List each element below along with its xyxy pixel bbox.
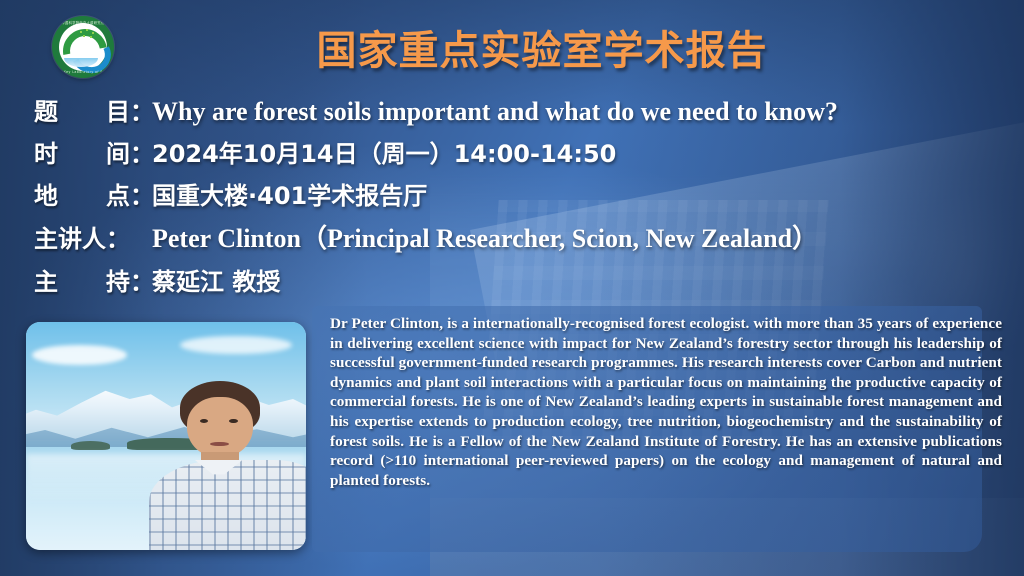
photo-cloud bbox=[32, 345, 127, 366]
info-value-topic: Why are forest soils important and what … bbox=[152, 97, 838, 127]
info-row-time: 时 间： 2024年10月14日（周一）14:00-14:50 bbox=[34, 134, 1014, 169]
info-row-topic: 题 目： Why are forest soils important and … bbox=[34, 92, 1014, 127]
photo-person bbox=[149, 381, 306, 550]
info-value-speaker: Peter Clinton（Principal Researcher, Scio… bbox=[152, 218, 818, 255]
info-label-host: 主 持： bbox=[34, 262, 152, 297]
page-title: 国家重点实验室学术报告 bbox=[0, 18, 1024, 76]
poster-header: 中国科学院南京土壤研究所 State Key Laboratory of Soi… bbox=[0, 0, 1024, 88]
info-value-time: 2024年10月14日（周一）14:00-14:50 bbox=[152, 134, 616, 169]
info-row-host: 主 持： 蔡延江 教授 bbox=[34, 262, 1014, 297]
info-label-speaker: 主讲人： bbox=[34, 219, 152, 254]
speaker-photo bbox=[26, 322, 306, 550]
info-label-time: 时 间： bbox=[34, 134, 152, 169]
info-row-speaker: 主讲人： Peter Clinton（Principal Researcher,… bbox=[34, 218, 1014, 255]
info-value-host: 蔡延江 教授 bbox=[152, 262, 280, 297]
photo-person-face bbox=[187, 397, 253, 457]
info-row-venue: 地 点： 国重大楼·401学术报告厅 bbox=[34, 176, 1014, 211]
seminar-poster: 中国科学院南京土壤研究所 State Key Laboratory of Soi… bbox=[0, 0, 1024, 576]
info-value-venue: 国重大楼·401学术报告厅 bbox=[152, 176, 427, 211]
photo-person-checked-shirt bbox=[149, 460, 306, 551]
info-label-topic: 题 目： bbox=[34, 92, 152, 127]
photo-cloud bbox=[180, 336, 292, 354]
info-label-venue: 地 点： bbox=[34, 176, 152, 211]
info-list: 题 目： Why are forest soils important and … bbox=[34, 92, 1014, 304]
biography-text: Dr Peter Clinton, is a internationally-r… bbox=[330, 314, 1002, 490]
photo-person-eye-left bbox=[200, 419, 209, 423]
photo-person-eye-right bbox=[229, 419, 238, 423]
photo-island bbox=[71, 441, 110, 450]
